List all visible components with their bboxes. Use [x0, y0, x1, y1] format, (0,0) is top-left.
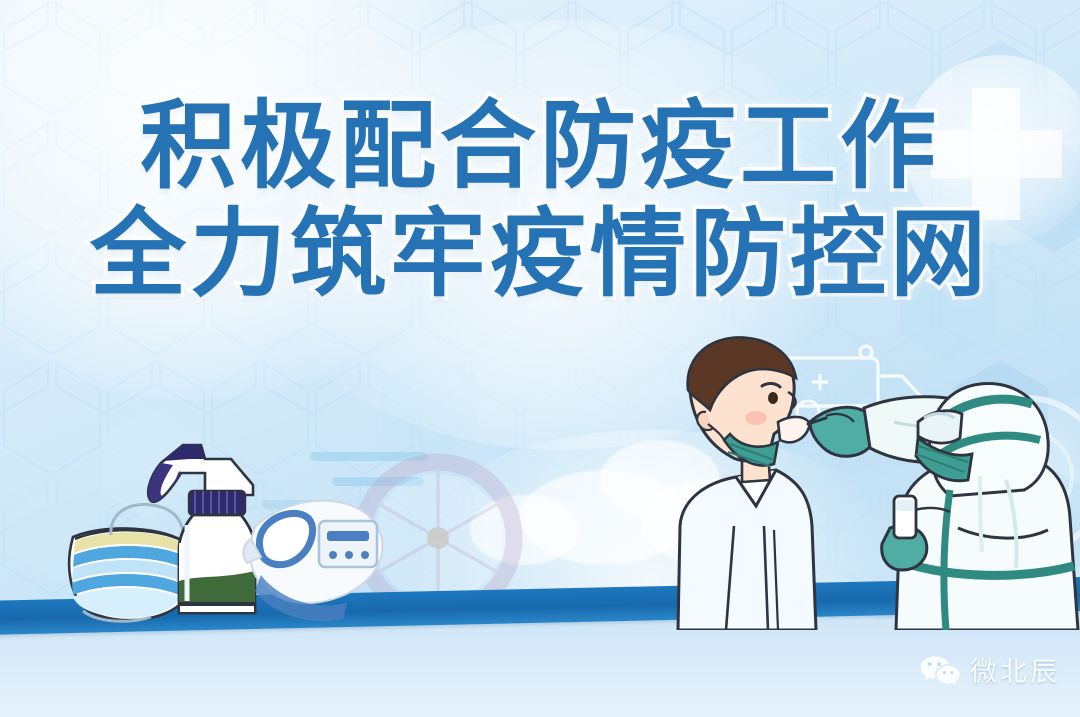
title-line-2: 全力筑牢疫情防控网 — [0, 206, 1080, 304]
title-line-1: 积极配合防疫工作 — [0, 98, 1080, 196]
watermark: 微北辰 — [920, 650, 1060, 689]
ground-lower-area — [0, 620, 1080, 717]
wechat-icon — [920, 654, 960, 686]
illustration-swab-scene — [650, 330, 1080, 630]
surgical-mask — [69, 505, 191, 622]
illustration-supplies — [55, 415, 405, 625]
infrared-thermometer — [244, 501, 383, 622]
poster-title: 积极配合防疫工作 全力筑牢疫情防控网 — [0, 98, 1080, 304]
watermark-text: 微北辰 — [970, 650, 1060, 689]
poster-canvas: 积极配合防疫工作 全力筑牢疫情防控网 微北辰 — [0, 0, 1080, 717]
patient-figure — [678, 337, 816, 630]
